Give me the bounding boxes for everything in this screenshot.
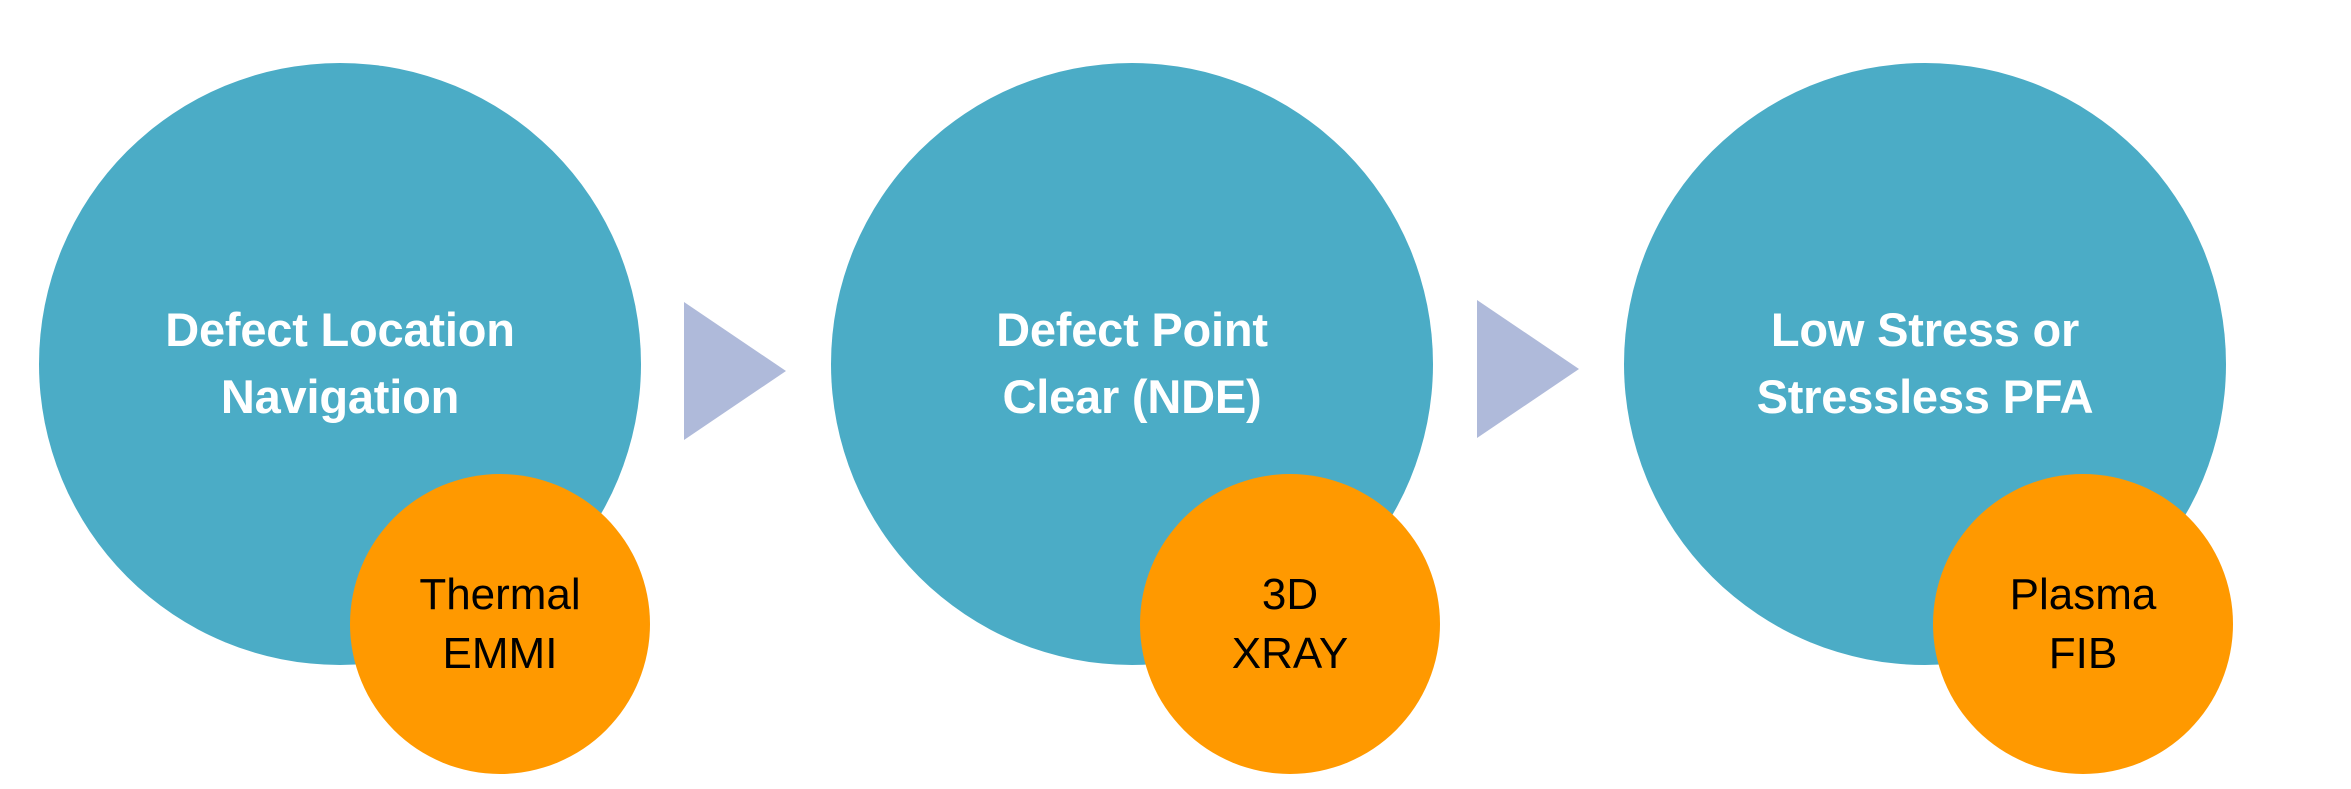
badge-label-3: Plasma FIB (1942, 565, 2224, 684)
badge-circle-1[interactable]: Thermal EMMI (350, 474, 650, 774)
stage-label-1: Defect Location Navigation (63, 297, 617, 430)
badge-circle-3[interactable]: Plasma FIB (1933, 474, 2233, 774)
workflow-stages: Defect Location Navigation Thermal EMMI … (0, 0, 2351, 789)
badge-label-2: 3D XRAY (1149, 565, 1431, 684)
stage-label-2: Defect Point Clear (NDE) (855, 297, 1409, 430)
badge-circle-2[interactable]: 3D XRAY (1140, 474, 1440, 774)
diagram-canvas: Defect Location Navigation Thermal EMMI … (0, 0, 2351, 789)
badge-label-1: Thermal EMMI (359, 565, 641, 684)
arrow-stage1-to-stage2 (684, 302, 786, 440)
arrow-stage2-to-stage3 (1477, 300, 1579, 438)
stage-label-3: Low Stress or Stressless PFA (1648, 297, 2202, 430)
